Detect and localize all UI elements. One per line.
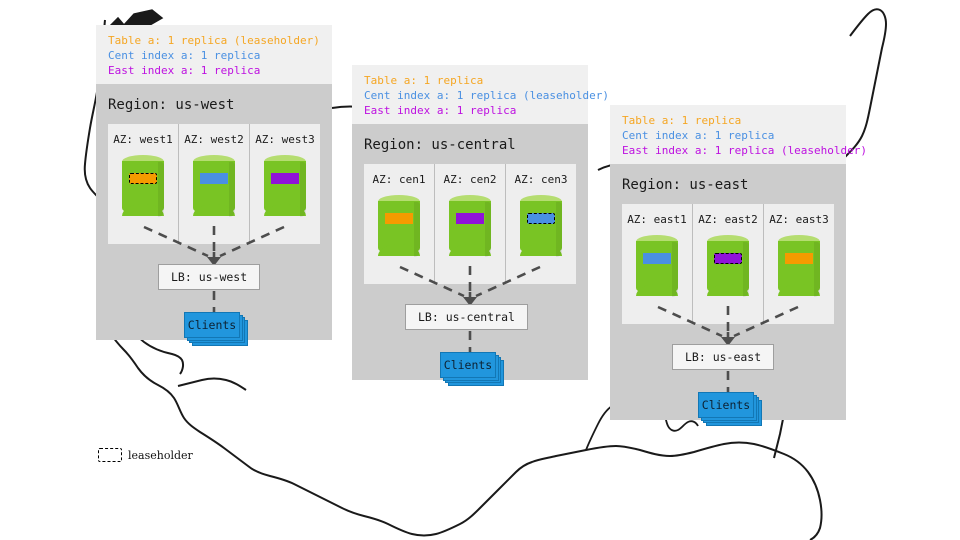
replica-line-table-a: Table a: 1 replica (leaseholder): [108, 33, 332, 48]
dashed-rect-icon: [98, 448, 122, 462]
replica-chip-east-index-a-leaseholder: [714, 253, 742, 264]
diagram-canvas: Table a: 1 replica (leaseholder) Cent in…: [0, 0, 960, 540]
replica-chip-cent-index-a-leaseholder: [527, 213, 555, 224]
region-box-us-east: Region: us-east AZ: east1 AZ: east2: [610, 164, 846, 420]
replica-line-cent-index-a: Cent index a: 1 replica: [622, 128, 846, 143]
clients-us-west[interactable]: Clients: [184, 312, 240, 338]
load-balancer-us-west[interactable]: LB: us-west: [158, 264, 260, 290]
load-balancer-us-east[interactable]: LB: us-east: [672, 344, 774, 370]
replica-chip-cent-index-a: [200, 173, 228, 184]
replica-line-east-index-a: East index a: 1 replica: [108, 63, 332, 78]
replica-chip-table-a: [785, 253, 813, 264]
replica-legend-us-east: Table a: 1 replica Cent index a: 1 repli…: [610, 105, 846, 164]
replica-legend-us-west: Table a: 1 replica (leaseholder) Cent in…: [96, 25, 332, 84]
leaseholder-legend-label: leaseholder: [128, 449, 193, 462]
load-balancer-us-central[interactable]: LB: us-central: [405, 304, 528, 330]
clients-label-us-central: Clients: [440, 352, 496, 378]
leaseholder-legend: leaseholder: [98, 448, 193, 462]
replica-chip-table-a: [385, 213, 413, 224]
connector-lines-us-west: [96, 84, 332, 340]
clients-label-us-west: Clients: [184, 312, 240, 338]
connector-lines-us-central: [352, 124, 588, 380]
replica-chip-cent-index-a: [643, 253, 671, 264]
region-box-us-west: Region: us-west AZ: west1 AZ: west2: [96, 84, 332, 340]
connector-lines-us-east: [610, 164, 846, 420]
replica-chip-east-index-a: [271, 173, 299, 184]
replica-line-table-a: Table a: 1 replica: [622, 113, 846, 128]
clients-us-central[interactable]: Clients: [440, 352, 496, 378]
replica-chip-table-a-leaseholder: [129, 173, 157, 184]
replica-line-east-index-a: East index a: 1 replica (leaseholder): [622, 143, 846, 158]
replica-line-cent-index-a: Cent index a: 1 replica: [108, 48, 332, 63]
clients-us-east[interactable]: Clients: [698, 392, 754, 418]
region-panel-us-west: Table a: 1 replica (leaseholder) Cent in…: [96, 25, 332, 340]
replica-line-cent-index-a: Cent index a: 1 replica (leaseholder): [364, 88, 588, 103]
region-panel-us-east: Table a: 1 replica Cent index a: 1 repli…: [610, 105, 846, 420]
replica-legend-us-central: Table a: 1 replica Cent index a: 1 repli…: [352, 65, 588, 124]
clients-label-us-east: Clients: [698, 392, 754, 418]
region-box-us-central: Region: us-central AZ: cen1 AZ: cen2: [352, 124, 588, 380]
replica-line-table-a: Table a: 1 replica: [364, 73, 588, 88]
region-panel-us-central: Table a: 1 replica Cent index a: 1 repli…: [352, 65, 588, 380]
replica-line-east-index-a: East index a: 1 replica: [364, 103, 588, 118]
replica-chip-east-index-a: [456, 213, 484, 224]
